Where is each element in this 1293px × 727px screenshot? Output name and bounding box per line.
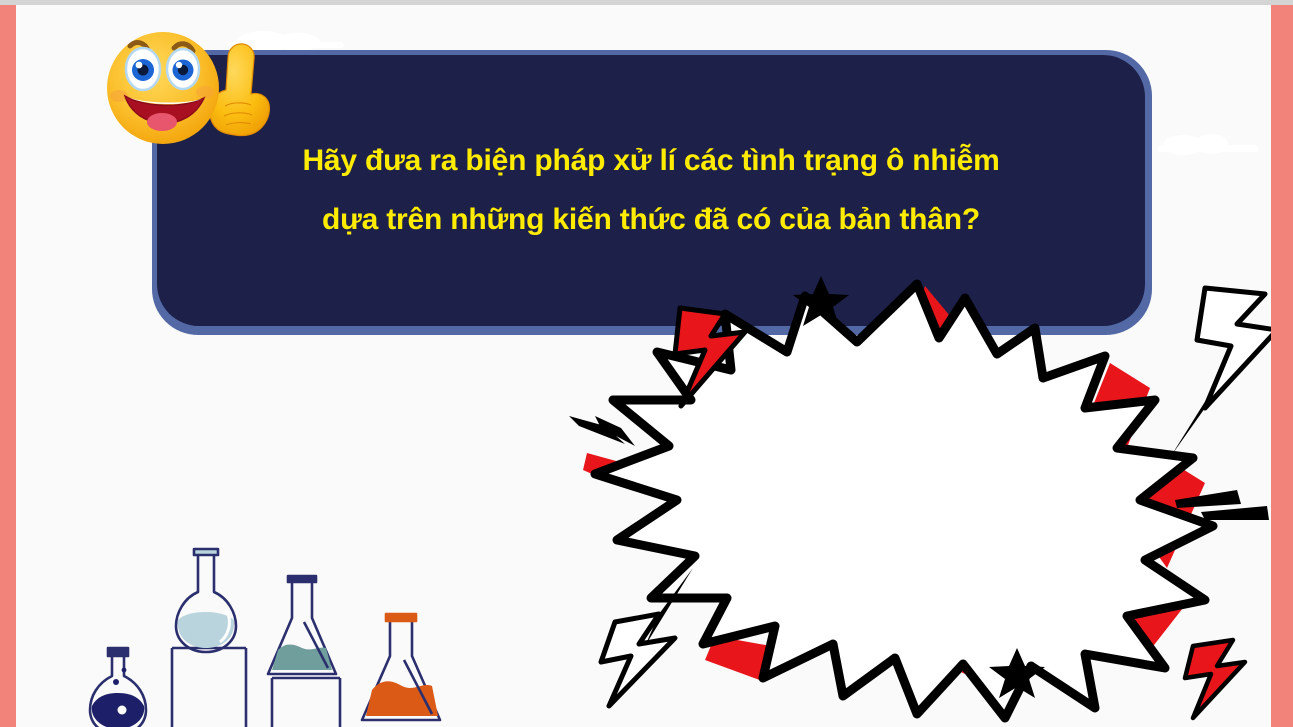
emoji-eye-left: [126, 48, 160, 90]
accent-bar-right: [1271, 0, 1293, 727]
emoji-tongue: [147, 113, 177, 131]
emoji-eye-right: [167, 49, 199, 89]
laboratory-glassware-illustration: [60, 538, 480, 727]
accent-bar-left: [0, 0, 16, 727]
smiley-pointing-emoji: [104, 22, 289, 152]
pedestal-right: [272, 678, 340, 727]
lightning-bolt-white-topright: [1171, 288, 1277, 456]
question-panel-text: Hãy đưa ra biện pháp xử lí các tình trạn…: [264, 132, 1037, 249]
erlenmeyer-flask-teal: [268, 576, 336, 674]
emoji-cheek-right: [196, 86, 214, 98]
question-line-2: dựa trên những kiến thức đã có của bản t…: [302, 191, 999, 250]
round-flask-small: [90, 648, 146, 727]
pedestal-left: [172, 648, 246, 727]
comic-starburst-callout[interactable]: Vi sinh vật được sử dụng trong xử lí ô n…: [565, 268, 1280, 727]
round-bottom-flask: [176, 549, 236, 652]
speed-lines-left: [569, 416, 635, 446]
lightning-bolt-red-bottomright: [1185, 640, 1245, 718]
question-line-1: Hãy đưa ra biện pháp xử lí các tình trạn…: [302, 132, 999, 191]
top-edge-strip: [0, 0, 1293, 5]
lightning-bolt-white-bottomleft: [601, 568, 693, 706]
slide-canvas: Hãy đưa ra biện pháp xử lí các tình trạn…: [0, 0, 1293, 727]
erlenmeyer-flask-orange: [362, 614, 440, 720]
